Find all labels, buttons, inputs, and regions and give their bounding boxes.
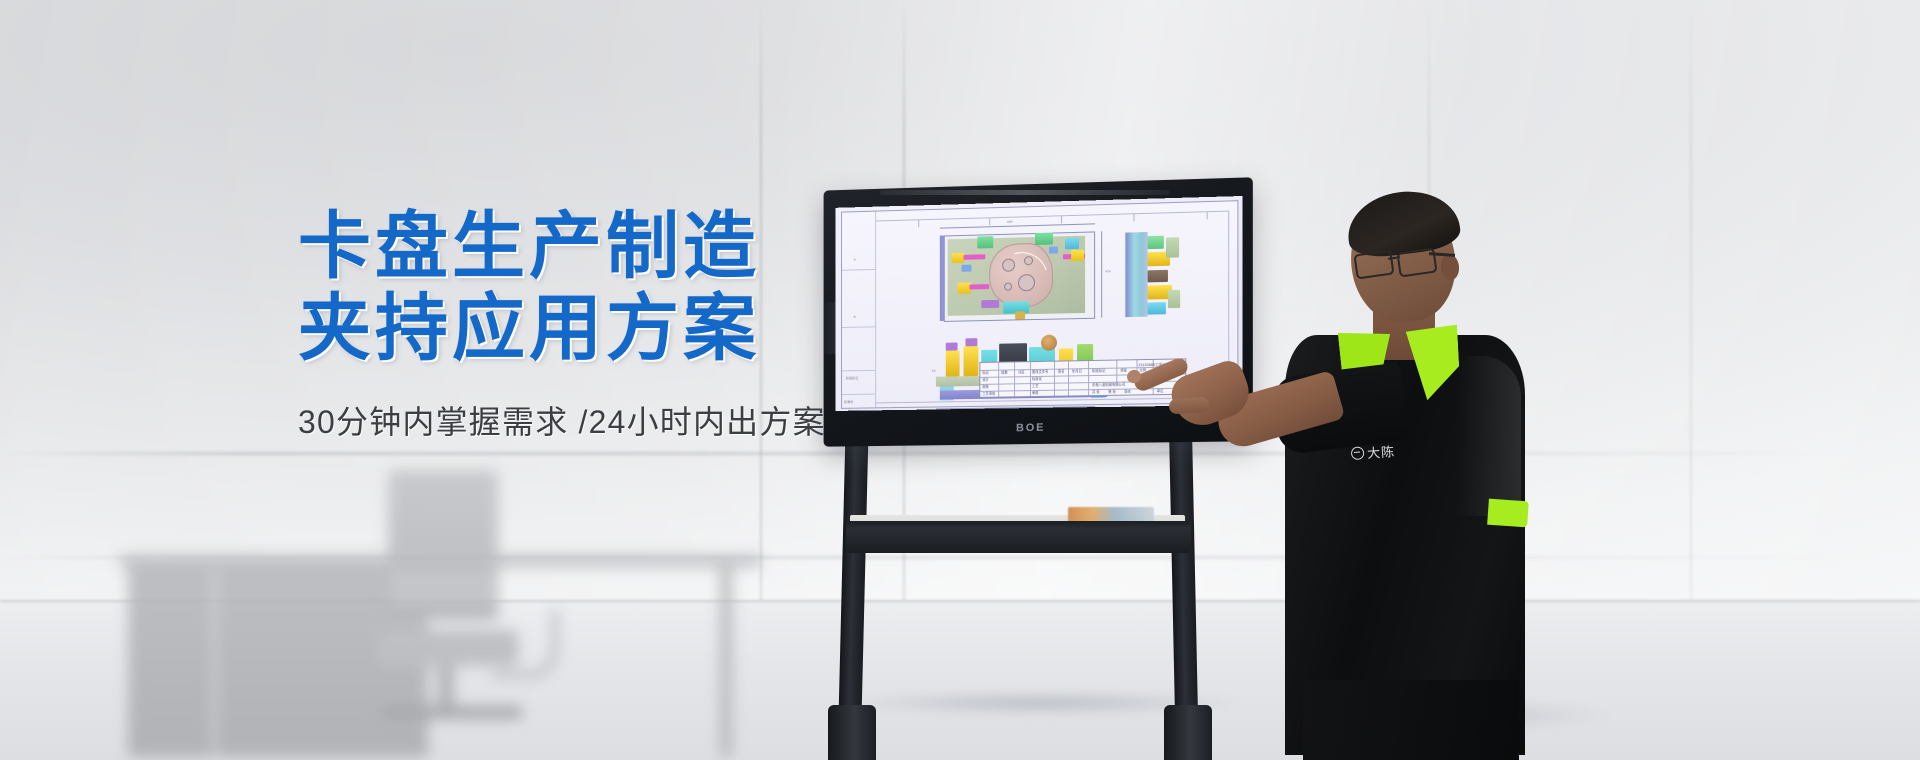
hero-banner: 卡盘生产制造 夹持应用方案 30分钟内掌握需求 /24小时内出方案	[0, 0, 1920, 760]
title-block-rule	[1116, 361, 1117, 382]
title-block-label: 设计	[982, 378, 989, 382]
hero-subline: 30分钟内掌握需求 /24小时内出方案	[298, 397, 858, 443]
fastener	[1049, 246, 1058, 253]
dimension-line	[1101, 231, 1102, 317]
drawing-ruler-tick	[1061, 216, 1062, 223]
title-block-footer: 共 张	[1092, 390, 1100, 394]
clamp-cylinder	[946, 350, 960, 376]
title-block-label: 标准化	[1032, 377, 1042, 381]
support-post	[1015, 311, 1025, 319]
clamp-head	[965, 338, 977, 346]
headline-line-1: 卡盘生产制造	[298, 206, 858, 288]
drawing-ruler-tick	[918, 220, 919, 227]
title-block-rule	[1054, 362, 1055, 396]
drawing-margin-rule	[875, 212, 876, 408]
eyeglasses-left-lens	[1353, 249, 1394, 279]
display-brand-logo: BOE	[1016, 422, 1045, 435]
title-block-label: 工艺	[1032, 384, 1039, 388]
chair-back-seam	[392, 594, 496, 599]
presenter-thumb	[1169, 397, 1210, 415]
desk-leg	[720, 567, 732, 757]
title-block-header: 分区	[1018, 370, 1025, 374]
hero-copy-block: 卡盘生产制造 夹持应用方案 30分钟内掌握需求 /24小时内出方案	[298, 206, 858, 443]
presenter-shoulder-highlight	[1455, 356, 1521, 516]
title-block-footer: 版本	[1124, 389, 1131, 393]
dimension-value: 680	[1007, 220, 1013, 224]
title-block-rule	[1088, 361, 1089, 395]
title-block-label: 校核	[982, 385, 989, 389]
support-block	[981, 300, 999, 308]
stand-shelf-frame	[846, 521, 1191, 553]
title-block-label: 重量	[1120, 368, 1127, 372]
title-block-rule	[1014, 362, 1015, 396]
title-block-label: 审核	[1032, 391, 1039, 395]
title-block-company: 东莞八波机械有限公司	[1092, 383, 1125, 388]
logo-mark-icon	[1351, 446, 1365, 460]
background-furniture	[120, 470, 760, 760]
title-block-header: 签名	[1058, 370, 1065, 374]
headline-line-2: 夹持应用方案	[298, 288, 858, 370]
title-block-footer: 第 张	[1108, 390, 1116, 394]
drawing-margin-label: 标准化	[844, 400, 853, 404]
title-block-label: 工艺审批	[982, 392, 995, 396]
title-block-rule	[998, 363, 999, 397]
drawing-ruler-tick	[1133, 214, 1134, 221]
dimension-value: 50	[932, 369, 936, 373]
clamp-arm	[969, 284, 989, 289]
desk-drawer-gap	[212, 570, 217, 755]
chair-back-seam	[392, 578, 496, 583]
stand-foot-left	[828, 705, 876, 760]
drawing-margin-rule	[842, 370, 875, 372]
clamp-arm	[964, 254, 986, 260]
office-chair-armrest	[492, 610, 558, 678]
locating-pin	[1071, 250, 1084, 261]
title-block-rule	[1030, 362, 1031, 396]
stand-post-left	[838, 430, 868, 720]
display-top-highlight	[880, 190, 1170, 195]
title-block-header: 标记	[982, 371, 989, 375]
drawing-margin-rule	[842, 394, 875, 396]
title-block-header: 处数	[1001, 370, 1008, 374]
clamp-cylinder	[964, 346, 979, 376]
drawing-margin-label: 阶段标记	[846, 376, 858, 380]
clamp-block	[1065, 238, 1079, 249]
title-block-label: 阶段标记	[1092, 369, 1105, 373]
side-body	[1125, 232, 1147, 317]
drawing-margin-rule	[842, 326, 875, 328]
title-block-header: 年月日	[1072, 369, 1082, 373]
dimension-value: 420	[1105, 269, 1111, 273]
office-chair-column	[438, 666, 454, 710]
drawing-margin-label: B	[854, 315, 856, 319]
clamp-block	[1035, 233, 1053, 245]
drawing-margin-label: A	[854, 258, 856, 262]
workpiece-casting	[989, 243, 1053, 308]
polo-sleeve-stripe	[1487, 499, 1529, 528]
drawing-ruler-tick	[989, 218, 990, 225]
fastener	[962, 265, 972, 272]
title-block-rule	[1068, 361, 1069, 395]
office-chair-base	[382, 706, 522, 719]
clamp-head	[946, 343, 958, 351]
presenter: 大陈	[1155, 180, 1635, 760]
clamp-block	[977, 236, 993, 248]
title-block-header: 更改文件号	[1032, 370, 1048, 374]
drawing-margin-rule	[842, 269, 875, 271]
presenter-hip	[1303, 680, 1519, 760]
